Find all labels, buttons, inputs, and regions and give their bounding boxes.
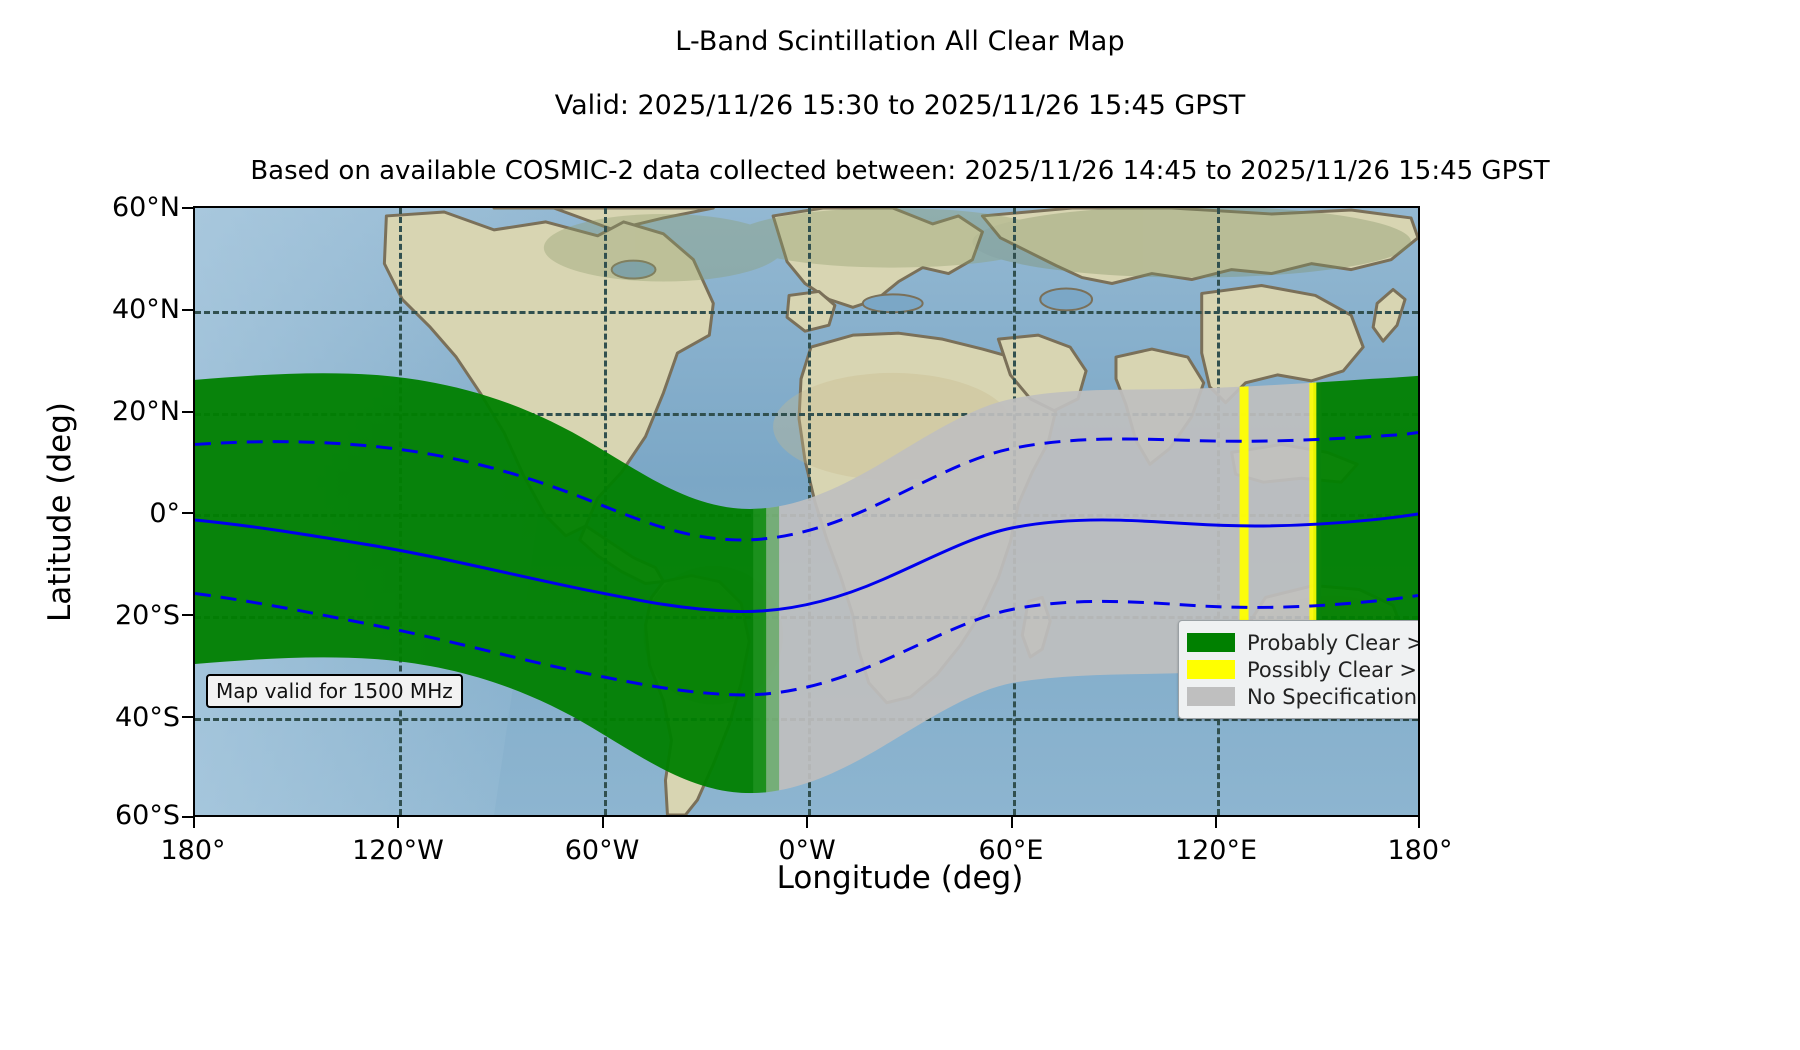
x-tick-label: 120°W [298,835,498,866]
y-tick-label: 40°S [20,702,180,733]
map-legend[interactable]: Probably Clear > 95% Probability Clear P… [1178,620,1418,719]
x-tick-label: 60°W [502,835,702,866]
frequency-note: Map valid for 1500 MHz [206,674,463,708]
y-tick-label: 20°N [20,396,180,427]
green-swatch [1187,633,1235,652]
y-tick-label: 60°N [20,192,180,223]
x-tick-label: 60°E [911,835,1111,866]
page-title: L-Band Scintillation All Clear Map [0,26,1800,57]
x-tick-label: 180° [93,835,293,866]
x-tick-label: 120°E [1116,835,1316,866]
legend-label: No Specification [1247,685,1417,709]
x-tick-label: 180° [1320,835,1520,866]
gray-swatch [1187,687,1235,706]
legend-item: Possibly Clear > 75% Probability Clear [1187,656,1418,683]
data-source-subtitle: Based on available COSMIC-2 data collect… [0,156,1800,186]
legend-label: Probably Clear > 95% Probability Clear [1247,631,1418,655]
x-tick-label: 0°W [707,835,907,866]
y-tick-label: 60°S [20,800,180,831]
scintillation-band-overlay [195,208,1418,815]
y-tick-label: 20°S [20,600,180,631]
y-tick-label: 0° [20,498,180,529]
valid-period-subtitle: Valid: 2025/11/26 15:30 to 2025/11/26 15… [0,90,1800,121]
legend-item: Probably Clear > 95% Probability Clear [1187,629,1418,656]
legend-item: No Specification [1187,683,1418,710]
scintillation-map-page: L-Band Scintillation All Clear Map Valid… [0,0,1800,1050]
legend-label: Possibly Clear > 75% Probability Clear [1247,658,1418,682]
y-tick-label: 40°N [20,294,180,325]
map-plot-area[interactable]: Probably Clear > 95% Probability Clear P… [193,206,1420,817]
yellow-swatch [1187,660,1235,679]
